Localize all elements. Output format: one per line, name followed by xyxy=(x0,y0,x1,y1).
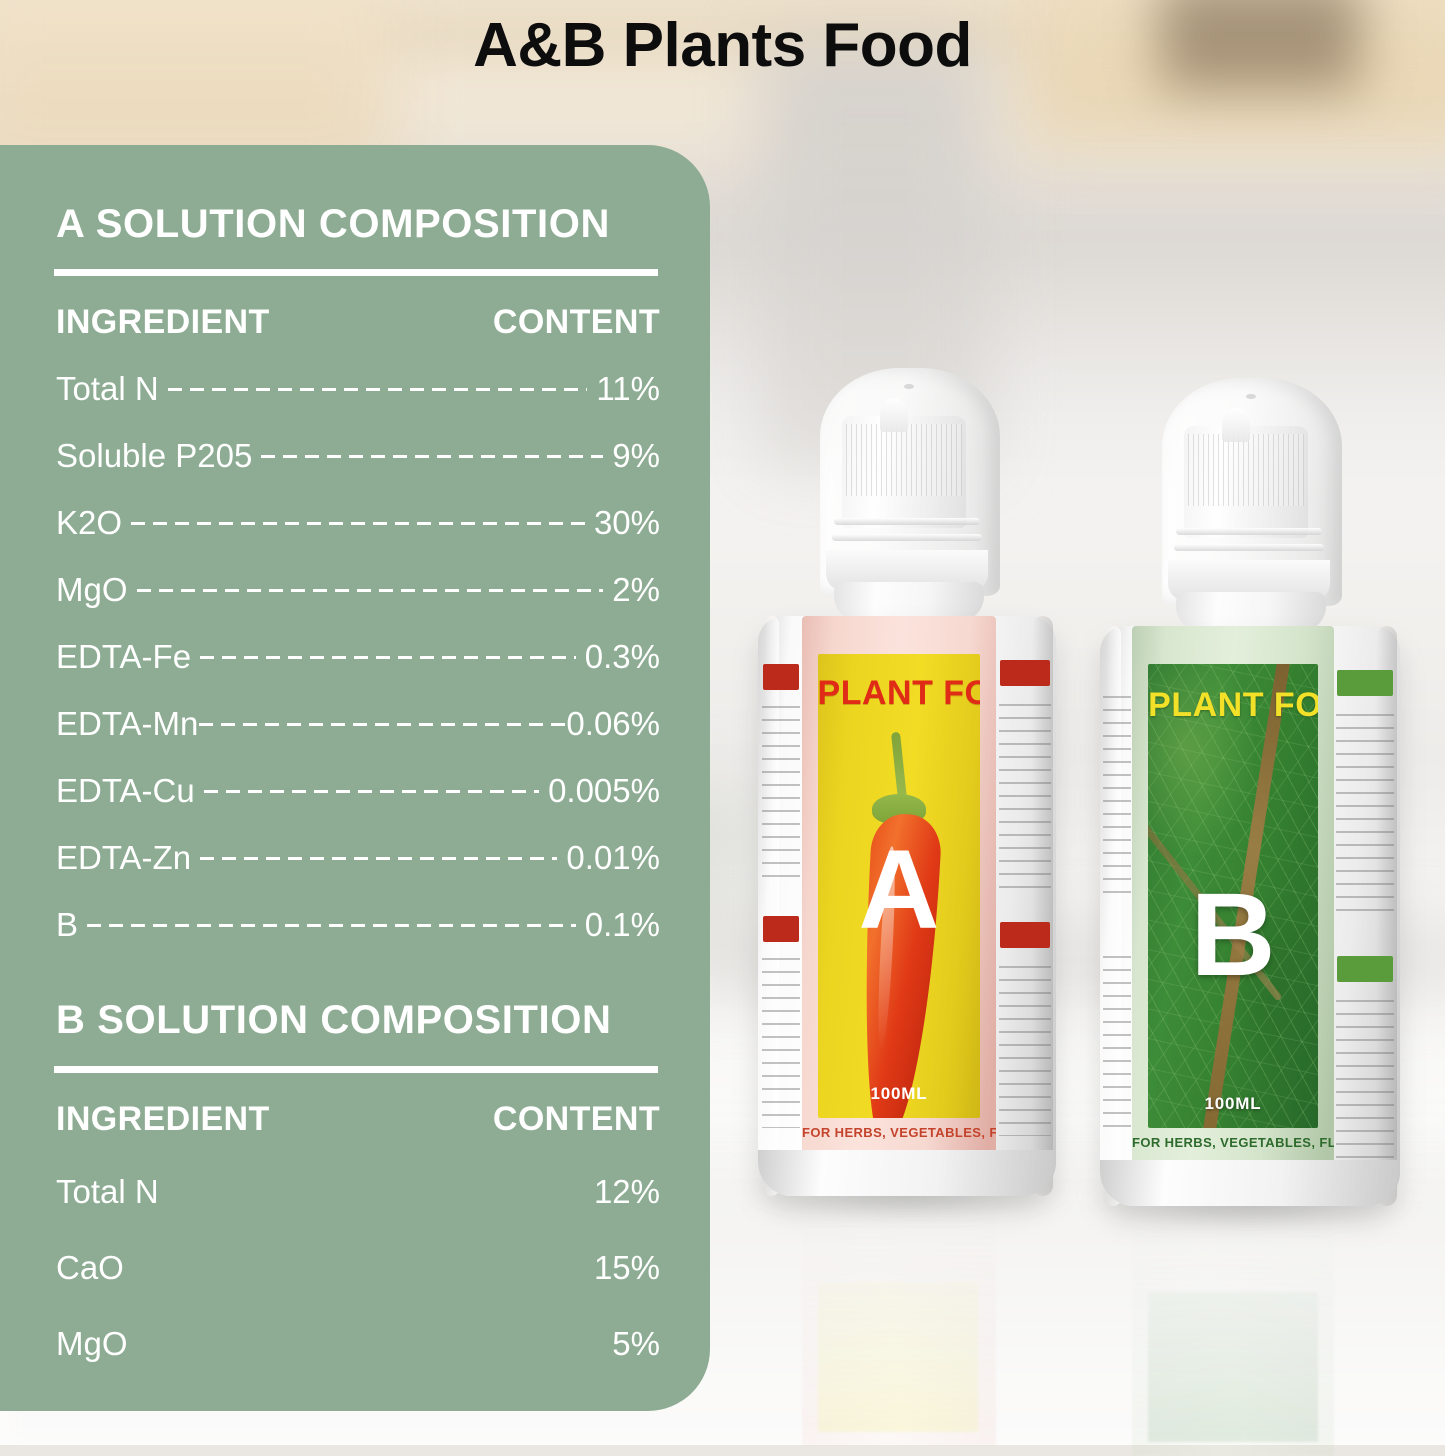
side-header-bar xyxy=(1000,922,1050,948)
bottle-b-base xyxy=(1100,1160,1400,1206)
ingredient-name: EDTA-Cu xyxy=(56,772,195,810)
bottle-a-body: PLANT FOOD A 100ML FOR HERBS, VEGETABLES… xyxy=(758,616,1056,1196)
bottle-a-side-panel-left xyxy=(758,616,804,1196)
b-solution-divider xyxy=(54,1066,658,1073)
bottle-b-letter: B xyxy=(1148,876,1318,994)
b-col-content: CONTENT xyxy=(493,1100,660,1139)
side-header-bar xyxy=(1337,670,1393,696)
bottle-b-cap[interactable] xyxy=(1162,378,1342,606)
side-header-bar xyxy=(763,916,800,942)
a-solution-heading: A SOLUTION COMPOSITION xyxy=(56,202,610,247)
ingredient-name: Total N xyxy=(56,1173,159,1211)
ingredient-content: 2% xyxy=(612,571,660,609)
table-row: K2O 30% xyxy=(56,489,660,556)
ingredient-name: MgO xyxy=(56,571,128,609)
cap-thread xyxy=(1174,544,1324,551)
bottle-a-side-panel-right xyxy=(994,616,1056,1196)
a-solution-column-headers: INGREDIENT CONTENT xyxy=(56,303,660,342)
table-row: MgO 2% xyxy=(56,556,660,623)
table-row: EDTA-Cu 0.005% xyxy=(56,757,660,824)
leader-dashes xyxy=(168,388,588,391)
ingredient-name: MgO xyxy=(56,1325,128,1363)
side-fine-print xyxy=(999,704,1051,894)
b-solution-column-headers: INGREDIENT CONTENT xyxy=(56,1100,660,1139)
cap-vent-dot xyxy=(1246,394,1256,399)
ingredient-name: EDTA-Fe xyxy=(56,638,191,676)
side-header-bar xyxy=(763,664,800,690)
cap-thread xyxy=(834,518,980,525)
table-row: Total N 11% xyxy=(56,355,660,422)
bottle-b-volume: 100ML xyxy=(1148,1094,1318,1114)
bottle-b-side-panel-right xyxy=(1330,626,1400,1206)
ingredient-name: B xyxy=(56,906,78,944)
bottle-a-tagline: FOR HERBS, VEGETABLES, FLOWERS AND MORE xyxy=(802,1125,996,1140)
side-header-bar xyxy=(1337,956,1393,982)
table-row: EDTA-Fe 0.3% xyxy=(56,623,660,690)
cap-vent-dot xyxy=(904,384,914,389)
ingredient-content: 15% xyxy=(594,1249,660,1287)
a-col-ingredient: INGREDIENT xyxy=(56,303,270,342)
b-solution-heading: B SOLUTION COMPOSITION xyxy=(56,998,611,1043)
a-solution-divider xyxy=(54,269,658,276)
bottle-b-brand-text: PLANT FOOD xyxy=(1148,686,1318,725)
ingredient-name: Total N xyxy=(56,370,159,408)
bottle-a-volume: 100ML xyxy=(818,1084,981,1104)
bottle-b-tagline: FOR HERBS, VEGETABLES, FLOWERS AND MORE xyxy=(1132,1135,1334,1150)
side-fine-print xyxy=(1336,714,1395,914)
ingredient-content: 30% xyxy=(594,504,660,542)
bottle-b-reflection xyxy=(1100,1206,1400,1456)
side-fine-print xyxy=(1103,956,1132,1136)
bottle-a-label-artwork: PLANT FOOD A 100ML xyxy=(818,654,981,1118)
table-row: EDTA-Mn 0.06% xyxy=(56,690,660,757)
composition-panel: A SOLUTION COMPOSITION INGREDIENT CONTEN… xyxy=(0,145,710,1411)
side-fine-print xyxy=(762,958,801,1128)
table-row: Total N 12% xyxy=(56,1154,660,1230)
leader-dashes xyxy=(87,924,576,927)
leader-dashes xyxy=(200,857,557,860)
bottle-b-label-artwork: PLANT FOOD B 100ML xyxy=(1148,664,1318,1128)
table-row: MgO 5% xyxy=(56,1306,660,1382)
side-fine-print xyxy=(999,966,1051,1136)
ingredient-content: 12% xyxy=(594,1173,660,1211)
side-fine-print xyxy=(762,706,801,886)
bottle-b-label: PLANT FOOD B 100ML FOR HERBS, VEGETABLES… xyxy=(1132,626,1334,1166)
ingredient-content: 0.01% xyxy=(566,839,660,877)
leader-dashes xyxy=(137,589,604,592)
leader-dashes xyxy=(200,656,576,659)
b-col-ingredient: INGREDIENT xyxy=(56,1100,270,1139)
ingredient-content: 9% xyxy=(612,437,660,475)
ingredient-name: EDTA-Mn xyxy=(56,705,198,743)
bottle-b-side-panel-left xyxy=(1100,626,1134,1206)
side-fine-print xyxy=(1103,696,1132,896)
ingredient-name: EDTA-Zn xyxy=(56,839,191,877)
b-solution-rows: Total N 12% CaO 15% MgO 5% xyxy=(56,1154,660,1382)
leader-dashes xyxy=(204,790,539,793)
ingredient-content: 5% xyxy=(612,1325,660,1363)
page-title: A&B Plants Food xyxy=(0,10,1445,81)
side-header-bar xyxy=(1000,660,1050,686)
bottle-a-label: PLANT FOOD A 100ML FOR HERBS, VEGETABLES… xyxy=(802,616,996,1156)
ingredient-content: 0.06% xyxy=(566,705,660,743)
ingredient-name: K2O xyxy=(56,504,122,542)
bottle-a-cap[interactable] xyxy=(820,368,1000,596)
cap-dispenser-tip xyxy=(1222,408,1250,442)
table-row: Soluble P205 9% xyxy=(56,422,660,489)
ingredient-content: 0.1% xyxy=(585,906,660,944)
cap-dispenser-tip xyxy=(880,398,908,432)
cap-thread xyxy=(832,534,982,541)
bottle-a[interactable]: PLANT FOOD A 100ML FOR HERBS, VEGETABLES… xyxy=(758,368,1056,1196)
table-row: B 0.1% xyxy=(56,891,660,958)
side-fine-print xyxy=(1336,1000,1395,1160)
a-solution-rows: Total N 11% Soluble P205 9% K2O 30% MgO … xyxy=(56,355,660,958)
table-row: EDTA-Zn 0.01% xyxy=(56,824,660,891)
table-row: CaO 15% xyxy=(56,1230,660,1306)
ingredient-name: CaO xyxy=(56,1249,124,1287)
bottle-b[interactable]: PLANT FOOD B 100ML FOR HERBS, VEGETABLES… xyxy=(1100,378,1400,1206)
ingredient-content: 0.005% xyxy=(548,772,660,810)
ingredient-content: 11% xyxy=(596,370,660,408)
leader-dashes xyxy=(199,723,565,726)
cap-ribs xyxy=(846,424,962,496)
ingredient-name: Soluble P205 xyxy=(56,437,252,475)
ingredient-content: 0.3% xyxy=(585,638,660,676)
bottle-b-body: PLANT FOOD B 100ML FOR HERBS, VEGETABLES… xyxy=(1100,626,1400,1206)
leader-dashes xyxy=(261,455,603,458)
leader-dashes xyxy=(131,522,585,525)
cap-thread xyxy=(1176,528,1322,535)
cap-ribs xyxy=(1188,434,1304,506)
bottle-a-reflection xyxy=(758,1196,1056,1446)
a-col-content: CONTENT xyxy=(493,303,660,342)
bottle-a-letter: A xyxy=(818,834,981,946)
bottle-a-brand-text: PLANT FOOD xyxy=(818,674,981,713)
bottle-a-base xyxy=(758,1150,1056,1196)
